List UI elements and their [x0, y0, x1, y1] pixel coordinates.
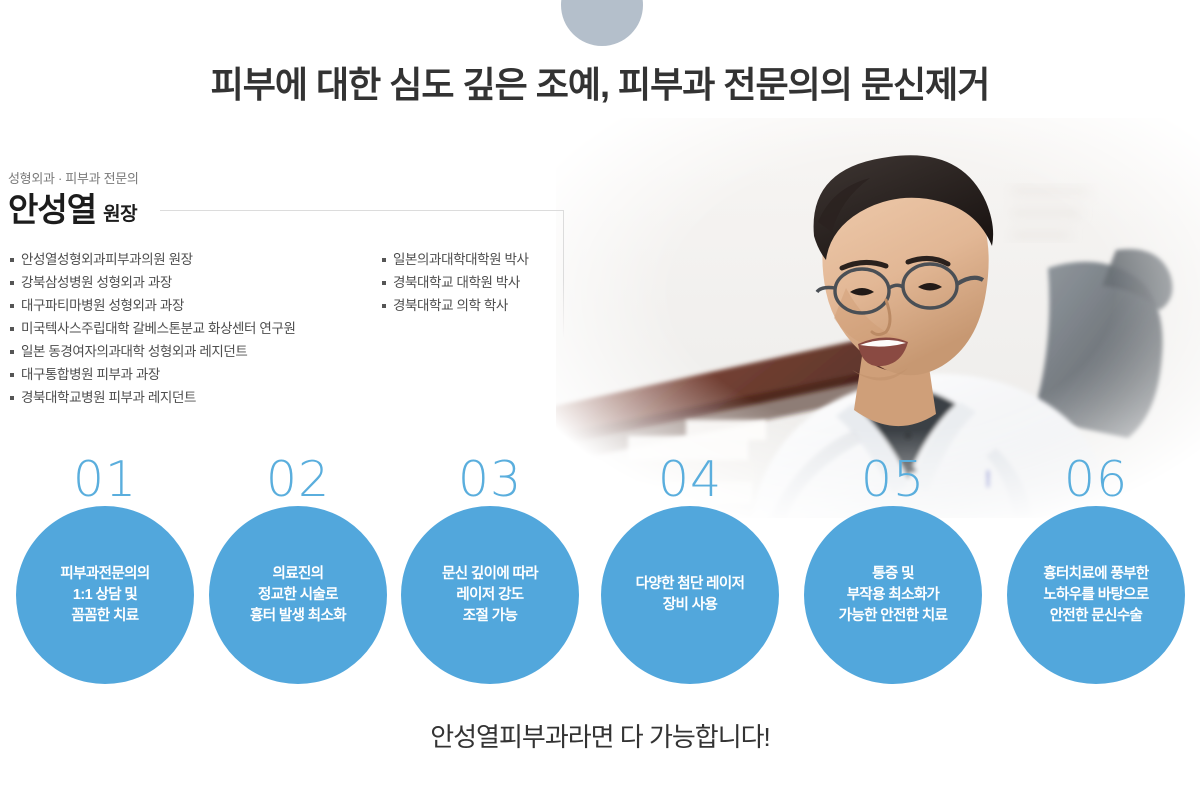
step-circle: 통증 및 부작용 최소화가 가능한 안전한 치료	[804, 506, 982, 684]
step-number: 03	[401, 455, 579, 504]
credential-item: 일본의과대학대학원 박사	[380, 248, 600, 271]
credential-item: 일본 동경여자의과대학 성형외과 레지던트	[8, 340, 368, 363]
step-label: 다양한 첨단 레이저 장비 사용	[628, 574, 753, 616]
doctor-title: 원장	[103, 205, 137, 226]
credential-item: 경북대학교 대학원 박사	[380, 271, 600, 294]
top-accent-circle	[561, 0, 643, 46]
step-number: 05	[804, 455, 982, 504]
step-number: 06	[1007, 455, 1185, 504]
step-circle: 다양한 첨단 레이저 장비 사용	[601, 506, 779, 684]
doctor-specialty: 성형외과 · 피부과 전문의	[8, 168, 588, 187]
step-circle: 흉터치료에 풍부한 노하우를 바탕으로 안전한 문신수술	[1007, 506, 1185, 684]
step-label: 흉터치료에 풍부한 노하우를 바탕으로 안전한 문신수술	[1035, 564, 1156, 627]
step-label: 통증 및 부작용 최소화가 가능한 안전한 치료	[831, 564, 956, 627]
feature-steps: 01 피부과전문의의 1:1 상담 및 꼼꼼한 치료 02 의료진의 정교한 시…	[0, 455, 1200, 705]
step-circle: 문신 깊이에 따라 레이저 강도 조절 가능	[401, 506, 579, 684]
step-number: 04	[601, 455, 779, 504]
credentials-left-column: 안성열성형외과피부과의원 원장 강북삼성병원 성형외과 과장 대구파티마병원 성…	[8, 248, 368, 409]
doctor-profile: 성형외과 · 피부과 전문의 안성열 원장	[8, 168, 588, 226]
step-label: 의료진의 정교한 시술로 흉터 발생 최소화	[242, 564, 354, 627]
step-circle: 의료진의 정교한 시술로 흉터 발생 최소화	[209, 506, 387, 684]
credential-item: 대구파티마병원 성형외과 과장	[8, 294, 368, 317]
step-circle: 피부과전문의의 1:1 상담 및 꼼꼼한 치료	[16, 506, 194, 684]
credential-item: 강북삼성병원 성형외과 과장	[8, 271, 368, 294]
step-number: 02	[209, 455, 387, 504]
step-number: 01	[16, 455, 194, 504]
credential-item: 미국텍사스주립대학 갈베스톤분교 화상센터 연구원	[8, 317, 368, 340]
credential-item: 대구통합병원 피부과 과장	[8, 363, 368, 386]
step-label: 피부과전문의의 1:1 상담 및 꼼꼼한 치료	[52, 564, 157, 627]
promo-page: 피부에 대한 심도 깊은 조예, 피부과 전문의의 문신제거	[0, 0, 1200, 800]
credentials-right-column: 일본의과대학대학원 박사 경북대학교 대학원 박사 경북대학교 의학 학사	[380, 248, 600, 317]
page-title: 피부에 대한 심도 깊은 조예, 피부과 전문의의 문신제거	[0, 56, 1200, 108]
credential-item: 경북대학교병원 피부과 레지던트	[8, 386, 368, 409]
step-label: 문신 깊이에 따라 레이저 강도 조절 가능	[434, 564, 546, 627]
doctor-name: 안성열	[8, 193, 96, 226]
credential-item: 경북대학교 의학 학사	[380, 294, 600, 317]
closing-tagline: 안성열피부과라면 다 가능합니다!	[0, 717, 1200, 754]
credential-item: 안성열성형외과피부과의원 원장	[8, 248, 368, 271]
doctor-name-row: 안성열 원장	[8, 193, 588, 226]
